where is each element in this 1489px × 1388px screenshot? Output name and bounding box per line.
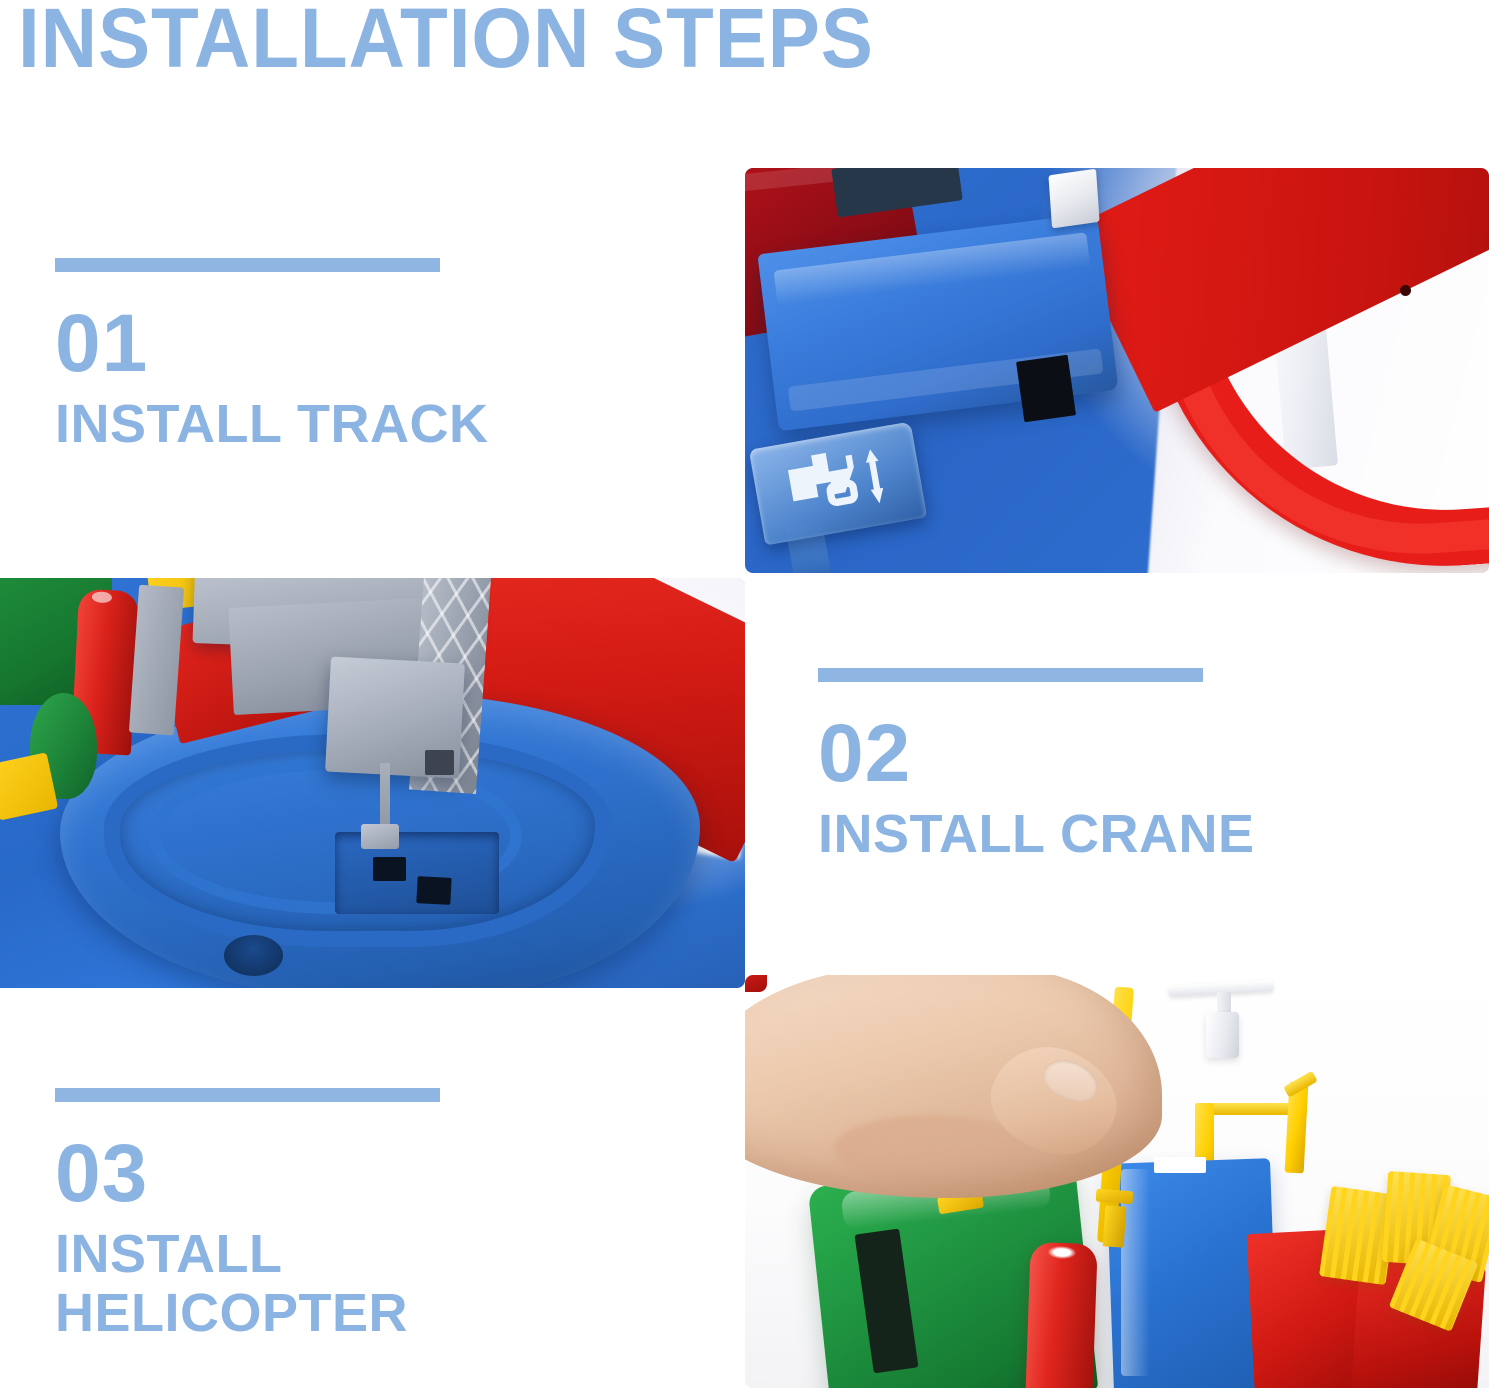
helicopter-rotor-tip: [1103, 1206, 1127, 1249]
install-track-photo: [745, 168, 1489, 573]
step-01-rule: [55, 258, 440, 272]
step-02-rule: [818, 668, 1203, 682]
step-02-label: INSTALL CRANE: [818, 805, 1438, 863]
track-scene: [745, 168, 1489, 573]
crane-cab-slot: [425, 750, 455, 775]
step-03-block: 03 INSTALL HELICOPTER: [55, 1088, 655, 1342]
crane-scene: [0, 578, 745, 988]
helicopter-rotor-collar: [1096, 1188, 1134, 1204]
hand-knuckle-shadow: [834, 1115, 1027, 1181]
step-02-block: 02 INSTALL CRANE: [818, 668, 1438, 864]
crane-pit-square-left: [373, 857, 407, 882]
step-01-block: 01 INSTALL TRACK: [55, 258, 655, 454]
helicopter-blue-notch: [1154, 1157, 1206, 1174]
crane-pit-square-right: [417, 876, 452, 904]
track-white-peg: [1048, 169, 1100, 228]
install-helicopter-photo: [745, 975, 1489, 1388]
crane-lift-icon: [767, 436, 909, 531]
crane-hook: [361, 824, 398, 849]
helicopter-scene: [745, 975, 1489, 1388]
install-crane-photo: [0, 578, 745, 988]
page-title: INSTALLATION STEPS: [18, 0, 874, 82]
step-03-label: INSTALL HELICOPTER: [55, 1225, 655, 1342]
helicopter-rotor-cap: [1206, 1012, 1239, 1057]
step-01-number: 01: [55, 306, 655, 381]
track-black-slot: [1016, 355, 1076, 422]
crane-drain-hole: [224, 935, 284, 976]
step-01-label: INSTALL TRACK: [55, 395, 655, 453]
step-03-rule: [55, 1088, 440, 1102]
step-03-number: 03: [55, 1136, 655, 1211]
step-02-number: 02: [818, 716, 1438, 791]
helicopter-red-corner: [745, 975, 767, 992]
installation-steps-infographic: INSTALLATION STEPS 01 INSTALL TRACK 02 I…: [0, 0, 1489, 1388]
helicopter-red-cylinder: [1025, 1242, 1097, 1388]
